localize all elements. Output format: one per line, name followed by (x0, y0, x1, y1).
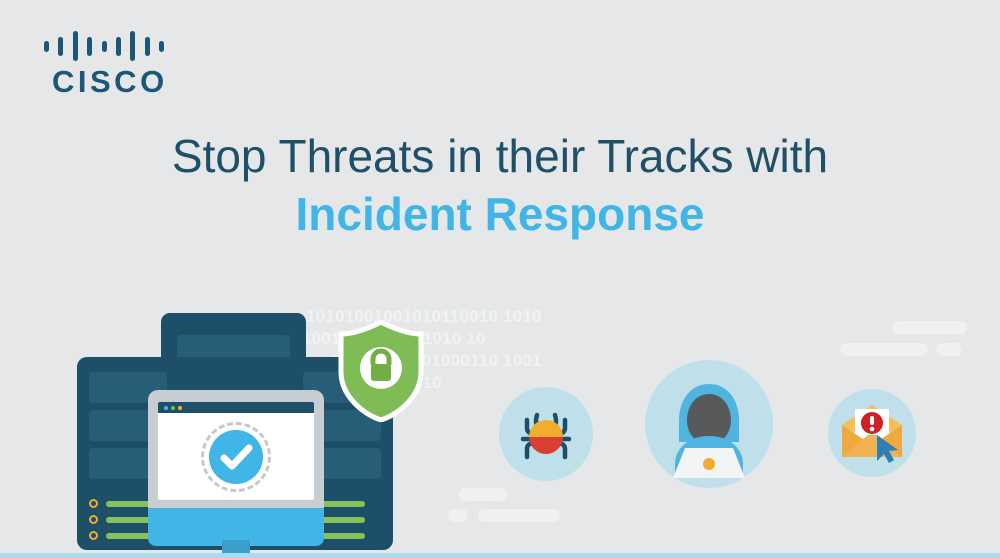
deco-bar-top-right-3 (936, 343, 962, 356)
cisco-bar-3 (73, 31, 78, 61)
phishing-email-icon (828, 389, 916, 477)
laptop-indicator (703, 458, 715, 470)
cisco-logo-bars (44, 30, 164, 62)
cisco-bar-5 (102, 41, 107, 52)
browser-dot-2 (171, 406, 175, 410)
browser-dot-3 (178, 406, 182, 410)
cisco-bar-8 (145, 37, 150, 56)
alert-exclamation-stem (870, 416, 874, 425)
server-led-2 (89, 515, 98, 524)
deco-bar-top-right-2 (840, 343, 928, 356)
hacker-svg (645, 360, 773, 488)
bottom-accent-rule (0, 553, 1000, 558)
malware-bug-icon (499, 387, 593, 481)
email-svg (828, 389, 916, 477)
browser-dot-1 (164, 406, 168, 410)
cisco-bar-2 (58, 37, 63, 56)
deco-bar-bottom-left-3 (478, 509, 560, 522)
server-led-1 (89, 499, 98, 508)
deco-bar-bottom-left-1 (459, 488, 507, 501)
security-shield-lock-icon (337, 320, 425, 422)
headline-line-2: Incident Response (0, 186, 1000, 244)
cisco-bar-1 (44, 41, 49, 52)
headline-line-1: Stop Threats in their Tracks with (0, 128, 1000, 186)
server-led-3 (89, 531, 98, 540)
cisco-bar-4 (87, 37, 92, 56)
shield-svg (337, 320, 425, 422)
cisco-bar-7 (130, 31, 135, 61)
bug-svg (499, 387, 593, 481)
deco-bar-top-right-1 (892, 321, 967, 334)
success-check-badge (209, 430, 263, 484)
browser-title-bar (158, 402, 314, 413)
alert-exclamation-dot (870, 427, 875, 432)
cisco-wordmark: CISCO (52, 64, 168, 100)
bug-body (529, 437, 563, 454)
check-icon (209, 430, 263, 484)
lock-body (371, 364, 391, 381)
page-title: Stop Threats in their Tracks with Incide… (0, 128, 1000, 244)
monitor-screen (158, 402, 314, 500)
desktop-monitor (148, 390, 324, 558)
poster-canvas: CISCO Stop Threats in their Tracks with … (0, 0, 1000, 558)
hooded-hacker-icon (645, 360, 773, 488)
cisco-logo[interactable]: CISCO (44, 30, 174, 100)
cisco-bar-6 (116, 37, 121, 56)
deco-bar-bottom-left-2 (448, 509, 468, 522)
cisco-bar-9 (159, 41, 164, 52)
